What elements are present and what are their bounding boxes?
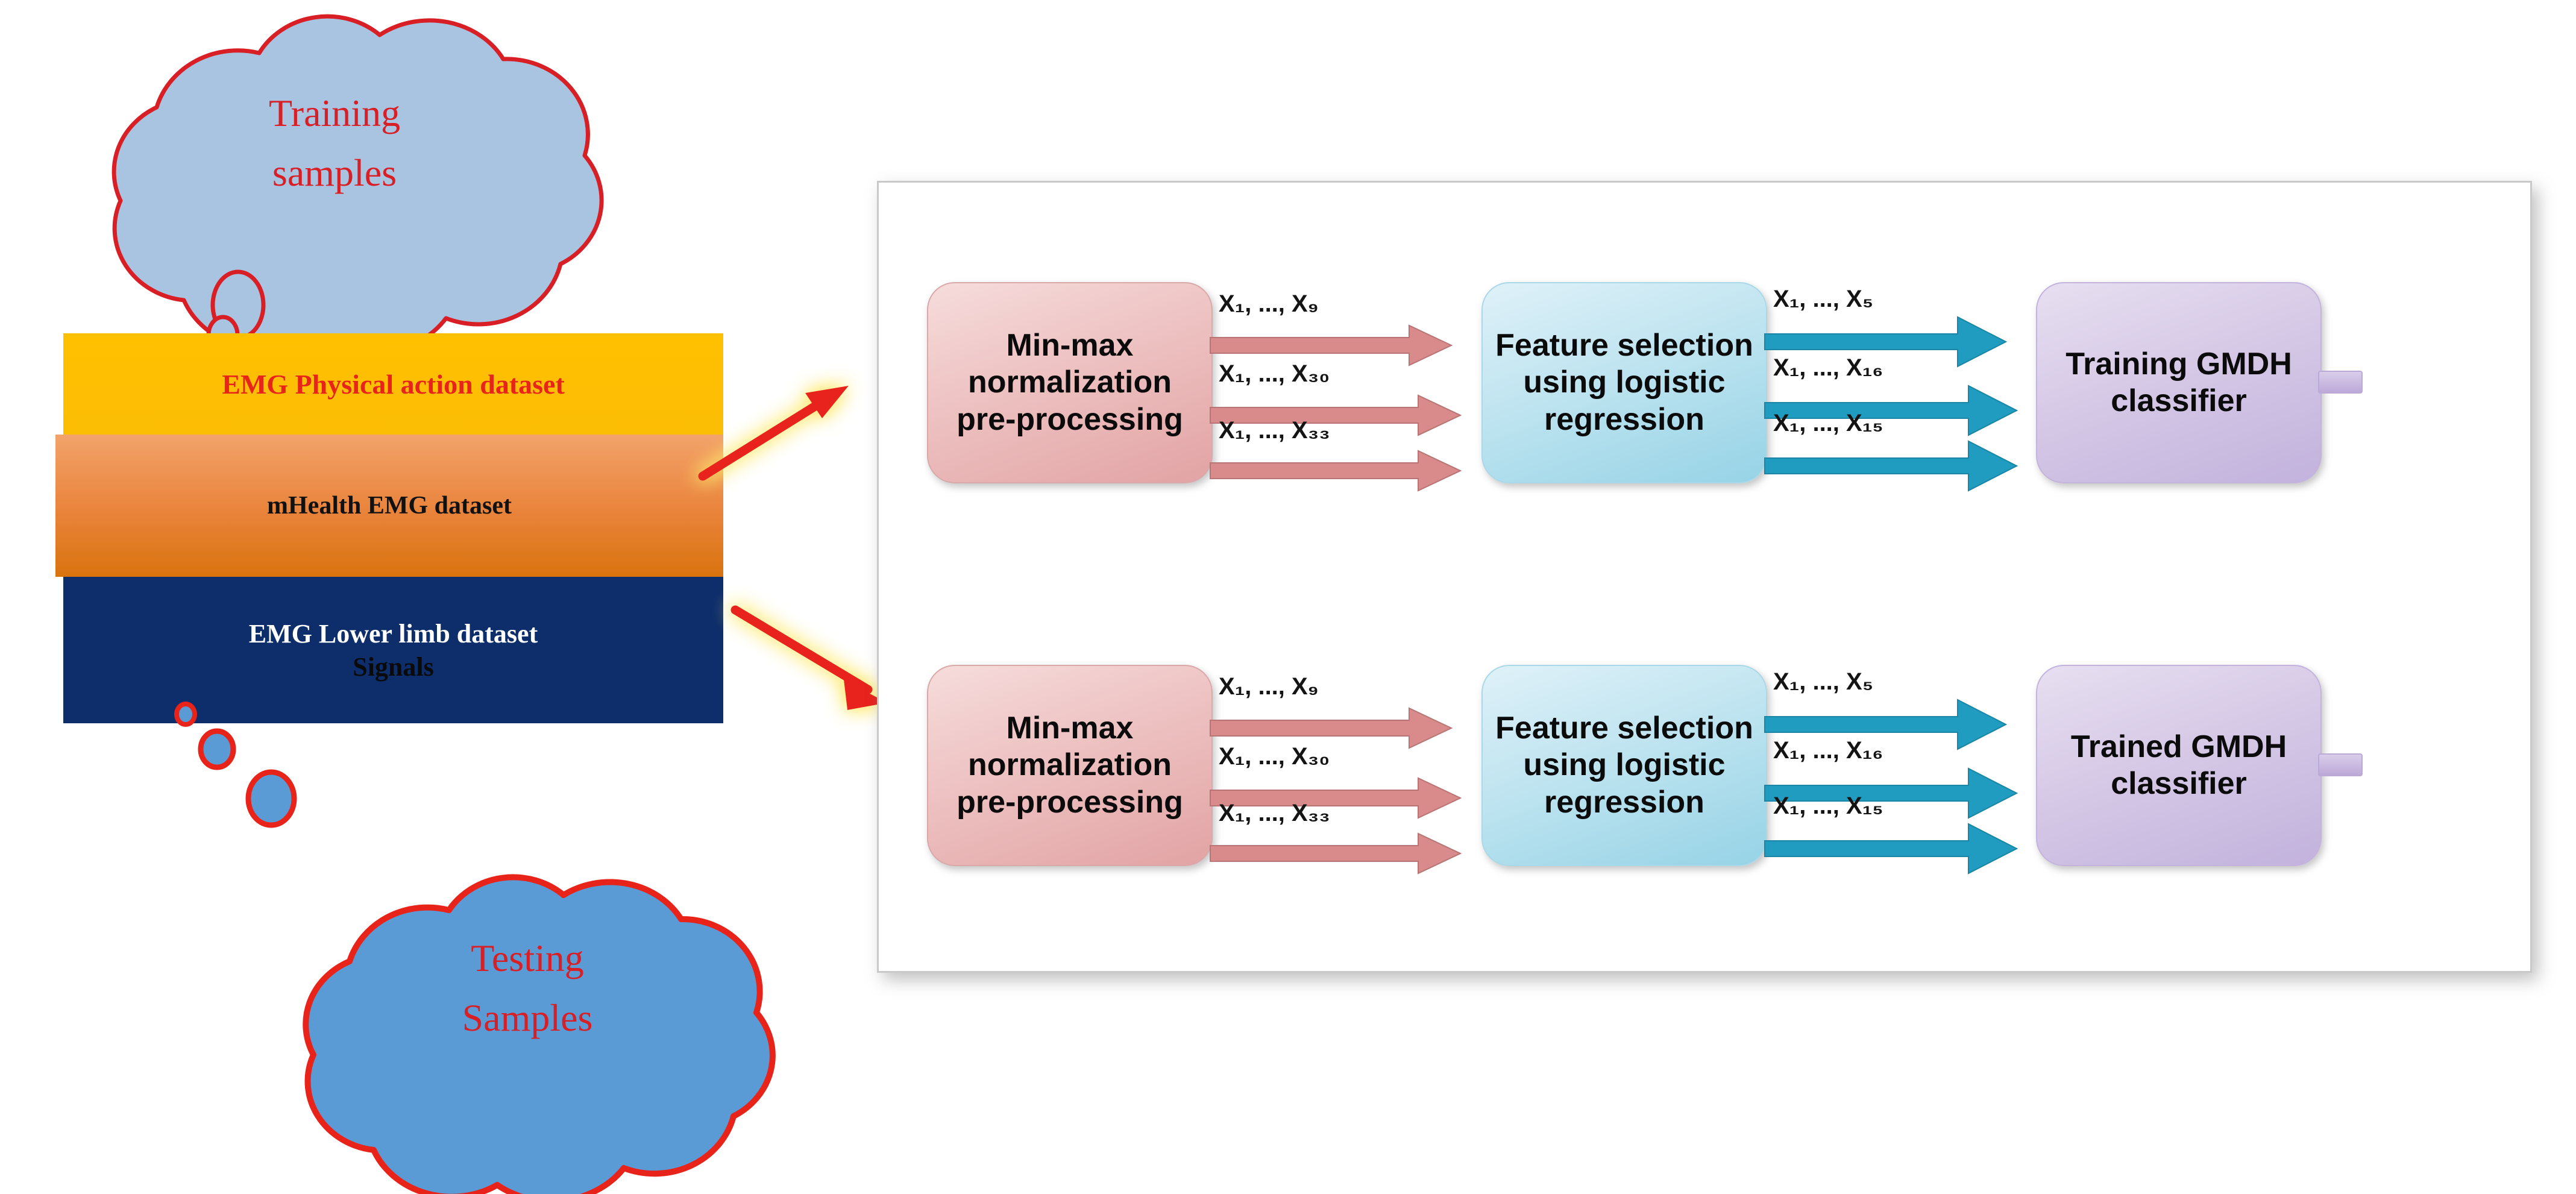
figure-canvas: Training samples EMG Physical action dat… <box>0 0 2576 1194</box>
dataset-bar-emg-lower-limb[interactable]: EMG Lower limb dataset Signals <box>63 577 723 723</box>
arrow-label-teal-2-testing: X₁, ..., X₁₆ <box>1773 737 1883 764</box>
box-label-min-max-normalization-training: Min-max normalization pre-processing <box>928 327 1211 438</box>
arrow-label-teal-1-testing: X₁, ..., X₅ <box>1773 668 1873 696</box>
arrow-group-teal-training: X₁, ..., X₅ X₁, ..., X₁₆ X₁, ..., X₁₅ <box>1765 282 2036 481</box>
training-samples-cloud: Training samples <box>6 5 663 342</box>
box-label-feature-selection-training: Feature selection using logistic regress… <box>1483 327 1766 438</box>
box-label-trained-gmdh-classifier: Trained GMDH classifier <box>2037 729 2320 803</box>
connector-stub-training-classifier <box>2318 371 2363 394</box>
box-min-max-normalization-training[interactable]: Min-max normalization pre-processing <box>927 282 1213 483</box>
box-feature-selection-training[interactable]: Feature selection using logistic regress… <box>1481 282 1767 483</box>
arrow-label-teal-3-training: X₁, ..., X₁₅ <box>1773 410 1883 437</box>
dataset-label-emg-lower-limb: EMG Lower limb dataset <box>249 617 538 650</box>
box-training-gmdh-classifier[interactable]: Training GMDH classifier <box>2036 282 2322 483</box>
arrow-label-teal-3-testing: X₁, ..., X₁₅ <box>1773 793 1883 820</box>
dataset-bar-mhealth-emg[interactable]: mHealth EMG dataset <box>55 435 723 577</box>
dataset-label-signals: Signals <box>353 650 434 683</box>
arrow-label-pink-3-training: X₁, ..., X₃₃ <box>1219 417 1330 444</box>
arrow-label-pink-2-testing: X₁, ..., X₃₀ <box>1219 743 1330 770</box>
dataset-label-mhealth-emg: mHealth EMG dataset <box>267 491 512 520</box>
dataset-bar-emg-physical-action[interactable]: EMG Physical action dataset <box>63 333 723 435</box>
arrow-group-pink-training: X₁, ..., X₉ X₁, ..., X₃₀ X₁, ..., X₃₃ <box>1210 282 1481 481</box>
box-label-feature-selection-testing: Feature selection using logistic regress… <box>1483 710 1766 821</box>
box-label-training-gmdh-classifier: Training GMDH classifier <box>2037 346 2320 420</box>
dataset-label-emg-physical-action: EMG Physical action dataset <box>222 368 565 400</box>
box-feature-selection-testing[interactable]: Feature selection using logistic regress… <box>1481 665 1767 866</box>
arrow-label-pink-3-testing: X₁, ..., X₃₃ <box>1219 800 1330 827</box>
box-min-max-normalization-testing[interactable]: Min-max normalization pre-processing <box>927 665 1213 866</box>
arrow-group-teal-testing: X₁, ..., X₅ X₁, ..., X₁₆ X₁, ..., X₁₅ <box>1765 665 2036 864</box>
arrow-label-pink-2-training: X₁, ..., X₃₀ <box>1219 360 1330 388</box>
arrow-group-pink-testing: X₁, ..., X₉ X₁, ..., X₃₀ X₁, ..., X₃₃ <box>1210 665 1481 864</box>
arrow-label-teal-1-training: X₁, ..., X₅ <box>1773 286 1873 313</box>
box-trained-gmdh-classifier[interactable]: Trained GMDH classifier <box>2036 665 2322 866</box>
arrow-label-teal-2-training: X₁, ..., X₁₆ <box>1773 354 1883 382</box>
testing-samples-cloud: Testing Samples <box>223 841 832 1178</box>
arrow-label-pink-1-training: X₁, ..., X₉ <box>1219 291 1319 318</box>
connector-stub-trained-classifier <box>2318 753 2363 776</box>
pipeline-panel: Min-max normalization pre-processing X₁,… <box>877 181 2532 973</box>
box-label-min-max-normalization-testing: Min-max normalization pre-processing <box>928 710 1211 821</box>
arrow-label-pink-1-testing: X₁, ..., X₉ <box>1219 673 1319 700</box>
